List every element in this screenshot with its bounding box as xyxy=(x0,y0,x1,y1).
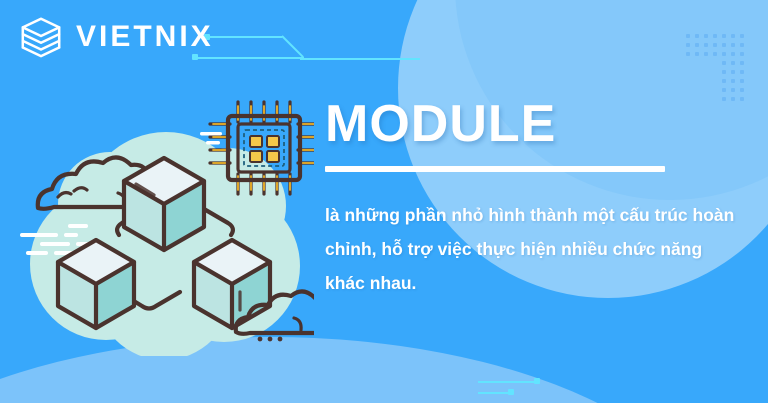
blockchain-modules-illustration: .ol { fill:none; stroke:#4a332e; stroke-… xyxy=(14,96,314,356)
stacked-layers-icon xyxy=(18,14,64,60)
cube-right xyxy=(194,240,270,328)
circuit-trace xyxy=(478,381,536,383)
cube-top xyxy=(124,158,204,250)
circuit-node xyxy=(534,378,540,384)
vietnix-module-banner: VIETNIX .ol { fill:none; stroke:#4a332e;… xyxy=(0,0,768,403)
title-underline-rule xyxy=(325,166,665,172)
content-block: MODULE là những phần nhỏ hình thành một … xyxy=(325,98,737,300)
circuit-trace xyxy=(210,36,282,38)
vietnix-logo[interactable]: VIETNIX xyxy=(18,14,214,60)
circuit-node xyxy=(508,389,514,395)
cube-left xyxy=(58,240,134,328)
circuit-trace xyxy=(300,58,420,60)
circuit-diagonal xyxy=(281,35,304,58)
logo-wordmark: VIETNIX xyxy=(76,22,214,52)
circuit-trace xyxy=(478,392,510,394)
page-title: MODULE xyxy=(325,98,737,150)
description-text: là những phần nhỏ hình thành một cấu trú… xyxy=(325,198,737,300)
